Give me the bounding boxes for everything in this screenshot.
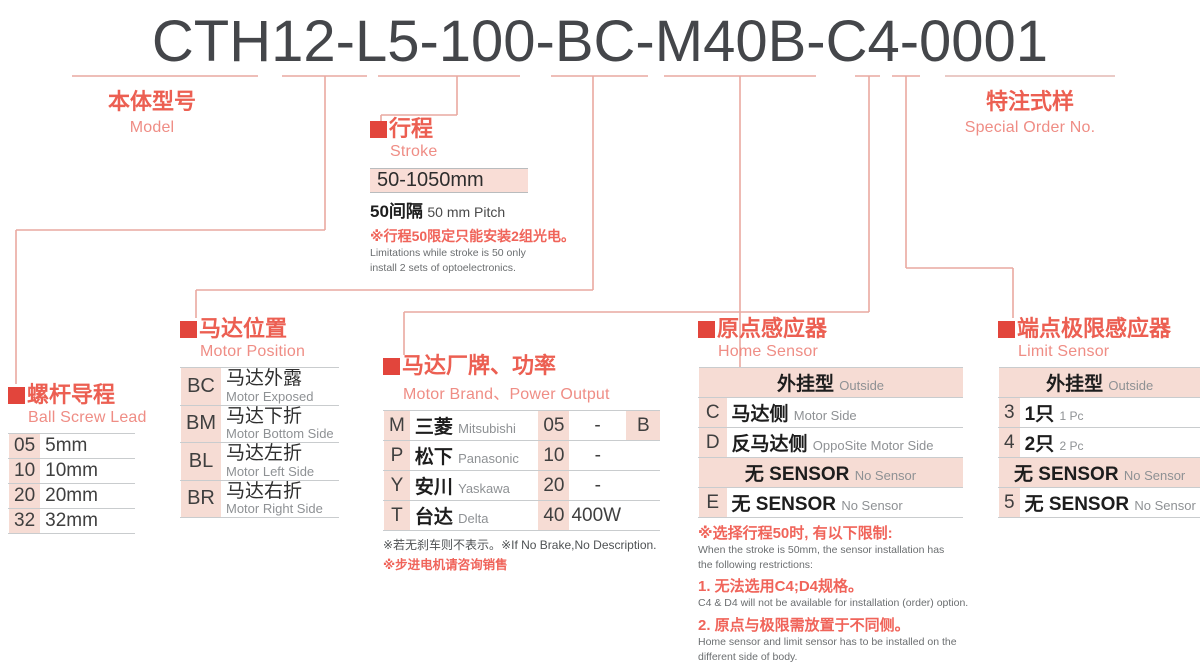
limit-sensor-table: 外挂型 Outside 3 1只 1 Pc 4 2只 2 Pc bbox=[998, 367, 1200, 518]
ball-screw-lead-title-cn: 螺杆导程 bbox=[27, 382, 115, 407]
table-row[interactable]: E 无 SENSOR No Sensor bbox=[699, 488, 963, 518]
motor-brand-footnote-1: ※若无刹车则不表示。※If No Brake,No Description. bbox=[383, 536, 660, 553]
table-header-row: 无 SENSOR No Sensor bbox=[999, 458, 1200, 488]
band-nosensor-cn: 无 SENSOR bbox=[1014, 464, 1119, 485]
motor-position-desc-cn: 马达外露 bbox=[226, 369, 334, 390]
band-nosensor-cn: 无 SENSOR bbox=[745, 464, 850, 485]
limit-sensor-desc-cn: 无 SENSOR bbox=[1025, 494, 1130, 515]
home-sensor-limits: ※选择行程50时, 有以下限制: When the stroke is 50mm… bbox=[698, 522, 968, 665]
home-sensor-desc: 无 SENSOR No Sensor bbox=[727, 488, 963, 518]
ball-screw-lead-title-en: Ball Screw Lead bbox=[28, 409, 147, 427]
home-sensor-code: D bbox=[699, 428, 727, 458]
table-header-row: 无 SENSOR No Sensor bbox=[699, 458, 963, 488]
lead-code: 20 bbox=[9, 484, 41, 509]
band-outside-cn: 外挂型 bbox=[777, 374, 834, 395]
home-sensor-code: C bbox=[699, 398, 727, 428]
stroke-title-en: Stroke bbox=[390, 143, 575, 161]
table-row[interactable]: D 反马达侧 OppoSite Motor Side bbox=[699, 428, 963, 458]
limit-sensor-desc-cn: 2只 bbox=[1025, 434, 1055, 455]
section-ball-screw-lead: 螺杆导程 Ball Screw Lead 05 5mm 10 10mm 20 2… bbox=[8, 384, 147, 534]
motor-brand-footnote-en: ※If No Brake,No Description. bbox=[501, 538, 656, 552]
home-sensor-desc: 反马达侧 OppoSite Motor Side bbox=[727, 428, 963, 458]
home-sensor-desc-en: OppoSite Motor Side bbox=[813, 438, 934, 453]
brake-code-empty bbox=[626, 471, 660, 501]
section-special-order: 特注式样 Special Order No. bbox=[930, 84, 1130, 137]
home-sensor-desc: 马达侧 Motor Side bbox=[727, 398, 963, 428]
stroke-note-cn: ※行程50限定只能安装2组光电。 bbox=[370, 226, 575, 246]
stroke-note-en-line2: install 2 sets of optoelectronics. bbox=[370, 261, 575, 276]
motor-position-desc: 马达右折 Motor Right Side bbox=[221, 480, 339, 518]
brand-name: 台达 Delta bbox=[410, 501, 538, 531]
table-header-row: 外挂型 Outside bbox=[999, 368, 1200, 398]
limits-header-en-line1: When the stroke is 50mm, the sensor inst… bbox=[698, 543, 968, 558]
bullet-square-icon bbox=[383, 358, 400, 375]
table-row[interactable]: P 松下 Panasonic 10 - bbox=[384, 441, 661, 471]
brand-name-cn: 松下 bbox=[415, 447, 453, 468]
brand-code: T bbox=[384, 501, 410, 531]
brand-name: 三菱 Mitsubishi bbox=[410, 411, 538, 441]
power-code: 40 bbox=[538, 501, 570, 531]
power-value: - bbox=[569, 471, 626, 501]
ball-screw-lead-table: 05 5mm 10 10mm 20 20mm 32 32mm bbox=[8, 433, 135, 534]
motor-position-code: BL bbox=[181, 443, 222, 481]
table-row[interactable]: C 马达侧 Motor Side bbox=[699, 398, 963, 428]
model-title-cn: 本体型号 bbox=[108, 84, 196, 116]
table-row[interactable]: 05 5mm bbox=[9, 434, 136, 459]
band-outside-en: Outside bbox=[839, 378, 884, 393]
motor-position-title-cn: 马达位置 bbox=[199, 316, 287, 341]
limit-sensor-band-nosensor: 无 SENSOR No Sensor bbox=[999, 458, 1200, 488]
motor-position-desc-en: Motor Right Side bbox=[226, 502, 334, 516]
brand-name: 松下 Panasonic bbox=[410, 441, 538, 471]
lead-value: 32mm bbox=[40, 509, 135, 534]
lead-code: 10 bbox=[9, 459, 41, 484]
limits-item1-cn: 1. 无法选用C4;D4规格。 bbox=[698, 575, 968, 596]
table-row[interactable]: Y 安川 Yaskawa 20 - bbox=[384, 471, 661, 501]
stroke-pitch-cn: 50间隔 bbox=[370, 202, 423, 221]
home-sensor-band-outside: 外挂型 Outside bbox=[699, 368, 963, 398]
limit-sensor-desc-cn: 1只 bbox=[1025, 404, 1055, 425]
lead-value: 20mm bbox=[40, 484, 135, 509]
stroke-pitch-en: 50 mm Pitch bbox=[427, 204, 505, 220]
home-sensor-code: E bbox=[699, 488, 727, 518]
table-row[interactable]: BL 马达左折 Motor Left Side bbox=[181, 443, 340, 481]
home-sensor-title-en: Home Sensor bbox=[718, 343, 968, 361]
motor-position-desc-cn: 马达右折 bbox=[226, 482, 334, 503]
motor-position-desc-en: Motor Left Side bbox=[226, 465, 334, 479]
stroke-pitch: 50间隔 50 mm Pitch bbox=[370, 197, 575, 222]
limit-sensor-code: 3 bbox=[999, 398, 1020, 428]
limit-sensor-desc: 无 SENSOR No Sensor bbox=[1020, 488, 1200, 518]
table-row[interactable]: BM 马达下折 Motor Bottom Side bbox=[181, 405, 340, 443]
table-row[interactable]: 5 无 SENSOR No Sensor bbox=[999, 488, 1200, 518]
lead-value: 5mm bbox=[40, 434, 135, 459]
motor-position-desc: 马达左折 Motor Left Side bbox=[221, 443, 339, 481]
limits-item2-en-line1: Home sensor and limit sensor has to be i… bbox=[698, 635, 968, 650]
stroke-range-box: 50-1050mm bbox=[370, 168, 528, 193]
brand-code: P bbox=[384, 441, 410, 471]
special-order-title-en: Special Order No. bbox=[930, 119, 1130, 137]
limit-sensor-title-cn: 端点极限感应器 bbox=[1017, 316, 1171, 341]
home-sensor-table: 外挂型 Outside C 马达侧 Motor Side D 反马达侧 Oppo bbox=[698, 367, 963, 518]
table-row[interactable]: BC 马达外露 Motor Exposed bbox=[181, 368, 340, 406]
brand-name-cn: 台达 bbox=[415, 507, 453, 528]
motor-brand-title-en: Motor Brand、Power Output bbox=[403, 380, 660, 404]
motor-position-code: BM bbox=[181, 405, 222, 443]
motor-brand-title-cn: 马达厂牌、功率 bbox=[402, 353, 556, 378]
home-sensor-desc-en: Motor Side bbox=[794, 408, 857, 423]
home-sensor-desc-cn: 无 SENSOR bbox=[732, 494, 837, 515]
band-outside-en: Outside bbox=[1108, 378, 1153, 393]
model-title-en: Model bbox=[108, 119, 196, 137]
brake-code-empty bbox=[626, 501, 660, 531]
motor-position-desc: 马达下折 Motor Bottom Side bbox=[221, 405, 339, 443]
limits-item1-en: C4 & D4 will not be available for instal… bbox=[698, 596, 968, 611]
limit-sensor-code: 4 bbox=[999, 428, 1020, 458]
power-value: - bbox=[569, 441, 626, 471]
motor-brand-footnote-2: ※步进电机请咨询销售 bbox=[383, 554, 660, 573]
motor-position-code: BC bbox=[181, 368, 222, 406]
brand-name: 安川 Yaskawa bbox=[410, 471, 538, 501]
band-nosensor-en: No Sensor bbox=[855, 468, 916, 483]
motor-position-title-en: Motor Position bbox=[200, 343, 339, 361]
power-value: - bbox=[569, 411, 626, 441]
section-limit-sensor: 端点极限感应器 Limit Sensor 外挂型 Outside 3 1只 1 … bbox=[998, 318, 1200, 518]
section-model: 本体型号 Model bbox=[108, 84, 196, 137]
power-code: 05 bbox=[538, 411, 570, 441]
limit-sensor-desc: 2只 2 Pc bbox=[1020, 428, 1200, 458]
table-header-row: 外挂型 Outside bbox=[699, 368, 963, 398]
table-row[interactable]: T 台达 Delta 40 400W bbox=[384, 501, 661, 531]
lead-code: 05 bbox=[9, 434, 41, 459]
limits-header-en-line2: the following restrictions: bbox=[698, 558, 968, 573]
limit-sensor-band-outside: 外挂型 Outside bbox=[999, 368, 1200, 398]
limit-sensor-desc: 1只 1 Pc bbox=[1020, 398, 1200, 428]
stroke-range-value: 50-1050mm bbox=[377, 169, 484, 192]
section-motor-position: 马达位置 Motor Position BC 马达外露 Motor Expose… bbox=[180, 318, 339, 518]
band-outside-cn: 外挂型 bbox=[1046, 374, 1103, 395]
limit-sensor-title-en: Limit Sensor bbox=[1018, 343, 1200, 361]
brand-code: M bbox=[384, 411, 410, 441]
motor-position-desc: 马达外露 Motor Exposed bbox=[221, 368, 339, 406]
home-sensor-desc-cn: 反马达侧 bbox=[732, 434, 808, 455]
motor-brand-table: M 三菱 Mitsubishi 05 - B P 松下 Panasonic 10 bbox=[383, 410, 660, 531]
home-sensor-desc-cn: 马达侧 bbox=[732, 404, 789, 425]
limit-sensor-desc-en: 2 Pc bbox=[1059, 439, 1083, 453]
bullet-square-icon bbox=[698, 321, 715, 338]
motor-position-desc-en: Motor Exposed bbox=[226, 390, 334, 404]
special-order-title-cn: 特注式样 bbox=[930, 84, 1130, 116]
band-nosensor-en: No Sensor bbox=[1124, 468, 1185, 483]
table-row[interactable]: 20 20mm bbox=[9, 484, 136, 509]
limits-item2-cn: 2. 原点与极限需放置于不同侧。 bbox=[698, 614, 968, 635]
brand-name-en: Panasonic bbox=[458, 451, 519, 466]
brand-name-en: Mitsubishi bbox=[458, 421, 516, 436]
brand-code: Y bbox=[384, 471, 410, 501]
power-value: 400W bbox=[569, 501, 626, 531]
brand-name-en: Yaskawa bbox=[458, 481, 510, 496]
table-row[interactable]: BR 马达右折 Motor Right Side bbox=[181, 480, 340, 518]
bullet-square-icon bbox=[8, 387, 25, 404]
motor-position-desc-cn: 马达下折 bbox=[226, 407, 334, 428]
table-row[interactable]: 10 10mm bbox=[9, 459, 136, 484]
home-sensor-band-nosensor: 无 SENSOR No Sensor bbox=[699, 458, 963, 488]
limits-item2-en-line2: different side of body. bbox=[698, 650, 968, 665]
motor-position-desc-cn: 马达左折 bbox=[226, 444, 334, 465]
home-sensor-desc-en: No Sensor bbox=[841, 498, 902, 513]
stroke-note-en-line1: Limitations while stroke is 50 only bbox=[370, 246, 575, 261]
section-home-sensor: 原点感应器 Home Sensor 外挂型 Outside C 马达侧 Moto… bbox=[698, 318, 968, 665]
power-code: 10 bbox=[538, 441, 570, 471]
table-row[interactable]: M 三菱 Mitsubishi 05 - B bbox=[384, 411, 661, 441]
bullet-square-icon bbox=[998, 321, 1015, 338]
table-row[interactable]: 3 1只 1 Pc bbox=[999, 398, 1200, 428]
motor-brand-footnote-cn: ※若无刹车则不表示。 bbox=[383, 538, 501, 552]
brand-name-cn: 三菱 bbox=[415, 417, 453, 438]
limit-sensor-desc-en: No Sensor bbox=[1134, 498, 1195, 513]
lead-value: 10mm bbox=[40, 459, 135, 484]
motor-position-table: BC 马达外露 Motor Exposed BM 马达下折 Motor Bott… bbox=[180, 367, 339, 518]
motor-position-code: BR bbox=[181, 480, 222, 518]
section-motor-brand: 马达厂牌、功率 Motor Brand、Power Output M 三菱 Mi… bbox=[383, 355, 660, 573]
limit-sensor-desc-en: 1 Pc bbox=[1059, 409, 1083, 423]
limit-sensor-code: 5 bbox=[999, 488, 1020, 518]
bullet-square-icon bbox=[370, 121, 387, 138]
brand-name-en: Delta bbox=[458, 511, 488, 526]
table-row[interactable]: 32 32mm bbox=[9, 509, 136, 534]
section-stroke: 行程 Stroke 50-1050mm 50间隔 50 mm Pitch ※行程… bbox=[370, 118, 575, 276]
limits-header-cn: ※选择行程50时, 有以下限制: bbox=[698, 522, 968, 543]
brake-code-empty bbox=[626, 441, 660, 471]
motor-position-desc-en: Motor Bottom Side bbox=[226, 427, 334, 441]
brake-code: B bbox=[626, 411, 660, 441]
home-sensor-title-cn: 原点感应器 bbox=[717, 316, 827, 341]
brand-name-cn: 安川 bbox=[415, 477, 453, 498]
lead-code: 32 bbox=[9, 509, 41, 534]
stroke-title-cn: 行程 bbox=[389, 116, 433, 141]
power-code: 20 bbox=[538, 471, 570, 501]
bullet-square-icon bbox=[180, 321, 197, 338]
table-row[interactable]: 4 2只 2 Pc bbox=[999, 428, 1200, 458]
